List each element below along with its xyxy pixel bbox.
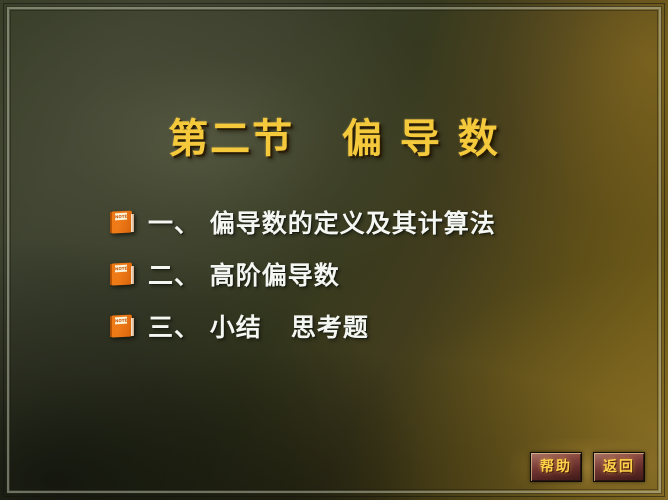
book-icon-label: NOTE bbox=[115, 213, 127, 221]
slide-navigation-buttons: 帮助 返回 bbox=[530, 452, 645, 482]
help-button-label: 帮助 bbox=[540, 460, 572, 474]
table-of-contents: NOTE 一、 偏导数的定义及其计算法 NOTE 二、 高阶偏导数 NOTE 三… bbox=[110, 196, 630, 352]
help-button[interactable]: 帮助 bbox=[530, 452, 582, 482]
list-item[interactable]: NOTE 一、 偏导数的定义及其计算法 bbox=[110, 196, 630, 248]
orange-book-icon: NOTE bbox=[110, 315, 134, 337]
list-item-label: 一、 偏导数的定义及其计算法 bbox=[148, 204, 496, 240]
orange-book-icon: NOTE bbox=[110, 263, 134, 285]
book-icon-label: NOTE bbox=[115, 265, 127, 273]
list-item[interactable]: NOTE 二、 高阶偏导数 bbox=[110, 248, 630, 300]
list-item[interactable]: NOTE 三、 小结 思考题 bbox=[110, 300, 630, 352]
back-button-label: 返回 bbox=[603, 460, 635, 474]
list-item-label: 三、 小结 思考题 bbox=[148, 308, 369, 344]
presentation-slide: 第二节 偏 导 数 NOTE 一、 偏导数的定义及其计算法 NOTE 二、 高阶… bbox=[0, 0, 668, 500]
book-icon-label: NOTE bbox=[115, 317, 127, 325]
back-button[interactable]: 返回 bbox=[593, 452, 645, 482]
orange-book-icon: NOTE bbox=[110, 211, 134, 233]
list-item-label: 二、 高阶偏导数 bbox=[148, 256, 340, 292]
page-title: 第二节 偏 导 数 bbox=[0, 106, 668, 164]
